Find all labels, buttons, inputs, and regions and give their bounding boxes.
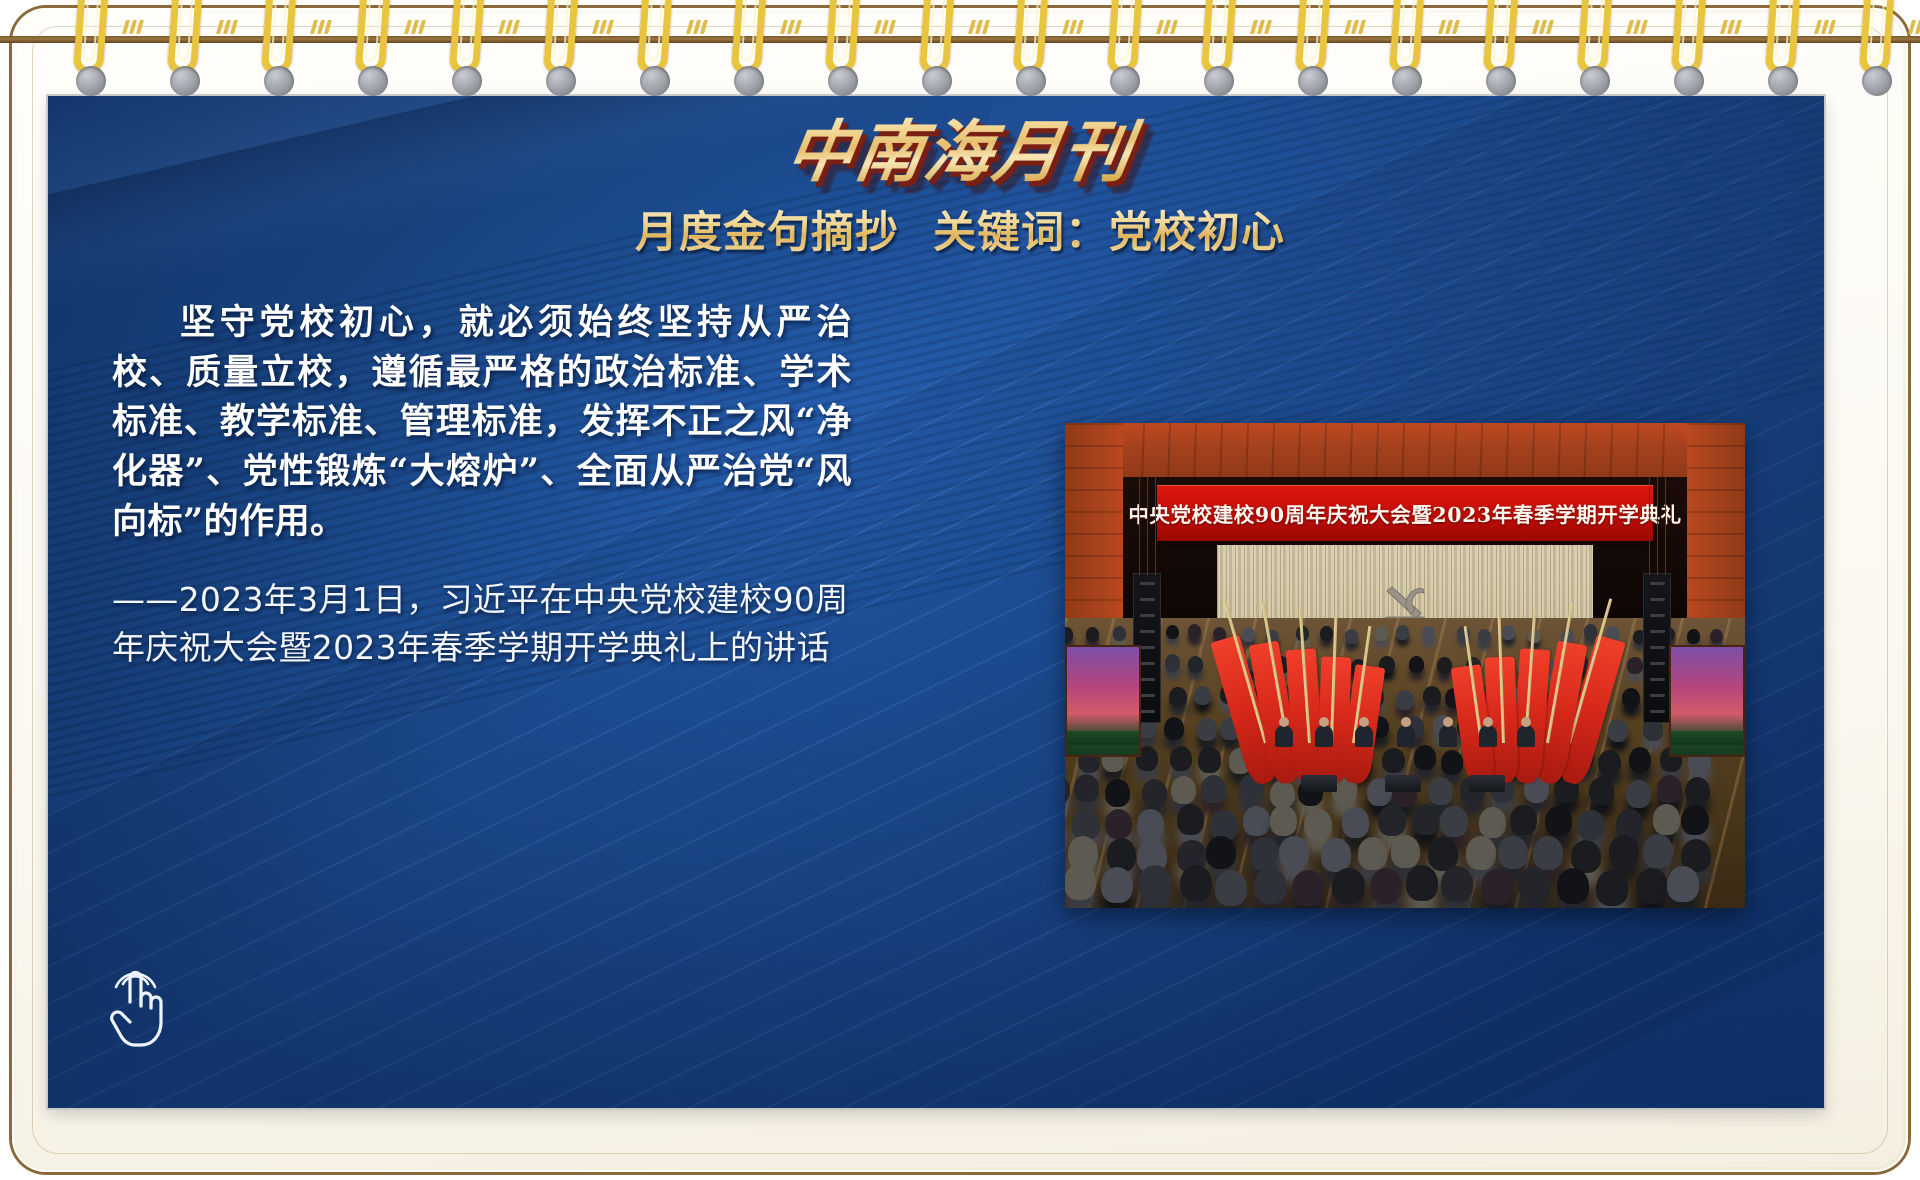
event-photo: 中央党校建校90周年庆祝大会暨2023年春季学期开学典礼 — [1065, 423, 1745, 908]
spiral-ring-loop — [919, 0, 955, 74]
audience-head — [1412, 804, 1439, 835]
punch-hole — [640, 66, 670, 96]
audience-head — [1321, 838, 1351, 871]
punch-hole — [1110, 66, 1140, 96]
spiral-wire-tick — [1158, 20, 1180, 34]
audience-head — [1626, 780, 1651, 808]
spiral-wire-tick — [1346, 20, 1368, 34]
spiral-ring-loop — [637, 0, 673, 74]
audience-head — [1629, 747, 1652, 772]
audience-head — [1622, 688, 1640, 708]
audience-head — [1086, 627, 1099, 642]
presidium-person — [1397, 725, 1415, 747]
spiral-wire-tick — [1816, 20, 1838, 34]
audience-head — [1406, 865, 1438, 901]
spiral-wire-tick — [1064, 20, 1086, 34]
presidium-person — [1479, 725, 1497, 747]
spiral-wire-tick — [406, 20, 428, 34]
audience-head — [1254, 868, 1286, 904]
punch-hole — [264, 66, 294, 96]
audience-head — [1440, 806, 1467, 837]
punch-hole — [546, 66, 576, 96]
punch-hole — [1580, 66, 1610, 96]
audience-head — [1627, 657, 1642, 674]
audience-head — [1382, 748, 1405, 773]
stage-monitor — [1385, 775, 1421, 792]
punch-hole — [828, 66, 858, 96]
audience-head — [1391, 835, 1421, 868]
audience-head — [1137, 809, 1164, 840]
spiral-wire-tick — [594, 20, 616, 34]
audience-head — [1292, 870, 1324, 906]
audience-head — [1113, 626, 1126, 641]
punch-hole — [1862, 66, 1892, 96]
audience-head — [1197, 718, 1217, 741]
audience-head — [1557, 868, 1589, 904]
subtitle-keyword: 关键词：党校初心 — [933, 208, 1285, 258]
audience-head — [1101, 867, 1133, 903]
audience-head — [1215, 870, 1247, 906]
spiral-ring-loop — [825, 0, 861, 74]
led-screen-right — [1669, 645, 1745, 757]
audience-head — [1598, 750, 1621, 775]
audience-head — [1320, 626, 1333, 641]
presidium-person — [1355, 725, 1373, 747]
presidium-person — [1315, 725, 1333, 747]
spiral-ring-loop — [1389, 0, 1425, 74]
punch-hole — [1392, 66, 1422, 96]
spiral-ring-loop — [731, 0, 767, 74]
punch-hole — [1298, 66, 1328, 96]
spiral-wire-tick — [1440, 20, 1462, 34]
speaker-wire — [1155, 477, 1156, 575]
audience-head — [1510, 805, 1537, 836]
audience-head — [1423, 686, 1441, 706]
presidium-person — [1439, 725, 1457, 747]
audience-head — [1332, 868, 1364, 904]
punch-hole — [1486, 66, 1516, 96]
spiral-wire-tick — [312, 20, 334, 34]
audience-head — [1206, 836, 1236, 869]
hall-ceiling — [1065, 423, 1745, 485]
quote-text: 坚守党校初心，就必须始终坚持从严治校、质量立校，遵循最严格的政治标准、学术标准、… — [112, 298, 852, 546]
audience-head — [1498, 836, 1528, 869]
audience-head — [1533, 836, 1563, 869]
stage-monitor — [1469, 775, 1505, 792]
audience-head — [1169, 687, 1187, 707]
audience-head — [1657, 775, 1682, 803]
speaker-wire — [1657, 477, 1658, 575]
spiral-wire-tick — [1628, 20, 1650, 34]
spiral-ring-loop — [1671, 0, 1707, 74]
audience-head — [1345, 629, 1358, 644]
punch-hole — [170, 66, 200, 96]
event-banner-text: 中央党校建校90周年庆祝大会暨2023年春季学期开学典礼 — [1128, 498, 1681, 528]
punch-hole — [76, 66, 106, 96]
punch-hole — [1204, 66, 1234, 96]
stage-monitor — [1301, 775, 1337, 792]
presidium-person — [1275, 725, 1293, 747]
audience-head — [1685, 777, 1710, 805]
spiral-ring-loop — [355, 0, 391, 74]
spiral-ring-loop — [167, 0, 203, 74]
line-array-speaker — [1643, 573, 1671, 723]
audience-head — [1681, 805, 1708, 836]
audience-head — [1636, 868, 1668, 904]
audience-head — [1370, 868, 1402, 904]
audience-head — [1270, 805, 1297, 836]
audience-head — [1441, 866, 1473, 902]
photo-scene: 中央党校建校90周年庆祝大会暨2023年春季学期开学典礼 — [1065, 423, 1745, 908]
audience-head — [1188, 656, 1203, 673]
audience-head — [1065, 776, 1070, 804]
audience-head — [1441, 750, 1464, 775]
audience-head — [1608, 719, 1628, 742]
audience-head — [1478, 629, 1491, 644]
spiral-ring-loop — [1577, 0, 1613, 74]
spiral-wire-tick — [1910, 20, 1920, 34]
punch-hole — [922, 66, 952, 96]
quote-attribution: ——2023年3月1日，习近平在中央党校建校90周年庆祝大会暨2023年春季学期… — [112, 576, 852, 672]
audience-head — [1577, 810, 1604, 841]
spiral-ring-loop — [543, 0, 579, 74]
audience-head — [1545, 806, 1572, 837]
spiral-wire-tick — [1722, 20, 1744, 34]
spiral-ring-loop — [1107, 0, 1143, 74]
subtitle-left: 月度金句摘抄 — [635, 208, 899, 258]
spiral-ring-loop — [1765, 0, 1801, 74]
notebook-page: 中南海月刊 月度金句摘抄关键词：党校初心 坚守党校初心，就必须始终坚持从严治校、… — [0, 0, 1920, 1180]
audience-head — [1609, 835, 1639, 868]
audience-head — [1667, 866, 1699, 902]
spiral-ring-loop — [1483, 0, 1519, 74]
audience-head — [1653, 804, 1680, 835]
audience-head — [1250, 837, 1280, 870]
spiral-ring-loop — [1013, 0, 1049, 74]
audience-head — [1589, 777, 1614, 805]
spiral-ring-loop — [1859, 0, 1895, 74]
audience-head — [1643, 834, 1673, 867]
speaker-wire — [1665, 477, 1666, 575]
audience-head — [1358, 837, 1388, 870]
audience-head — [1481, 869, 1513, 905]
audience-head — [1165, 654, 1180, 671]
spiral-wire-tick — [1534, 20, 1556, 34]
spiral-ring-loop — [449, 0, 485, 74]
audience-head — [1170, 746, 1193, 771]
audience-head — [1074, 774, 1099, 802]
audience-head — [1171, 776, 1196, 804]
audience-head — [1142, 779, 1167, 807]
audience-head — [1687, 629, 1700, 644]
tap-hand-icon[interactable] — [100, 962, 172, 1052]
audience-head — [1065, 864, 1096, 900]
audience-head — [1584, 624, 1597, 639]
audience-head — [1596, 870, 1628, 906]
audience-head — [1139, 865, 1171, 901]
page-title: 中南海月刊 — [770, 98, 1150, 195]
audience-head — [1188, 624, 1201, 639]
spiral-wire-tick — [124, 20, 146, 34]
punch-hole — [1674, 66, 1704, 96]
audience-head — [1422, 626, 1435, 641]
audience-head — [1243, 806, 1270, 837]
spiral-wire-tick — [218, 20, 240, 34]
punch-hole — [1016, 66, 1046, 96]
punch-hole — [734, 66, 764, 96]
audience-head — [1105, 779, 1130, 807]
audience-head — [1242, 627, 1255, 642]
spiral-wire-tick — [970, 20, 992, 34]
punch-hole — [452, 66, 482, 96]
audience-head — [1710, 629, 1723, 644]
spiral-ring-loop — [73, 0, 109, 74]
spiral-binding — [0, 0, 1920, 100]
spiral-wire-tick — [876, 20, 898, 34]
audience-head — [1396, 625, 1409, 640]
speaker-wire — [1139, 477, 1140, 575]
subtitle-row: 月度金句摘抄关键词：党校初心 — [0, 198, 1920, 260]
event-banner: 中央党校建校90周年庆祝大会暨2023年春季学期开学典礼 — [1157, 485, 1653, 541]
audience-head — [1304, 809, 1331, 840]
speaker-wire — [1649, 477, 1650, 575]
audience-head — [1198, 747, 1221, 772]
led-screen-left — [1065, 645, 1141, 757]
audience-head — [1166, 625, 1179, 640]
audience-head — [1164, 717, 1184, 740]
subtitle-group: 月度金句摘抄关键词：党校初心 — [635, 198, 1285, 260]
audience-head — [1518, 867, 1550, 903]
masthead: 中南海月刊 — [0, 98, 1920, 195]
audience-head — [1107, 838, 1137, 871]
audience-head — [1466, 836, 1496, 869]
audience-head — [1270, 780, 1295, 808]
audience-head — [1072, 809, 1099, 840]
spiral-ring-loop — [1201, 0, 1237, 74]
audience-head — [1396, 690, 1414, 710]
audience-head — [1502, 625, 1515, 640]
quote-column: 坚守党校初心，就必须始终坚持从严治校、质量立校，遵循最严格的政治标准、学术标准、… — [112, 298, 852, 672]
audience-head — [1414, 745, 1437, 770]
punch-hole — [358, 66, 388, 96]
audience-head — [1105, 809, 1132, 840]
audience-head — [1177, 804, 1204, 835]
spiral-wire-tick — [1252, 20, 1274, 34]
spiral-wire-tick — [500, 20, 522, 34]
audience-head — [1180, 865, 1212, 901]
audience-head — [1479, 807, 1506, 838]
audience-head — [1065, 627, 1073, 642]
presidium-person — [1517, 725, 1535, 747]
spiral-ring-loop — [261, 0, 297, 74]
spiral-wire-tick — [688, 20, 710, 34]
audience-head — [1428, 777, 1453, 805]
audience-head — [1342, 807, 1369, 838]
audience-head — [1279, 836, 1309, 869]
audience-head — [1375, 626, 1388, 641]
audience-head — [1409, 656, 1424, 673]
spiral-ring-loop — [1295, 0, 1331, 74]
audience-head — [1378, 805, 1405, 836]
audience-head — [1194, 686, 1212, 706]
audience-head — [1201, 775, 1226, 803]
punch-hole — [1768, 66, 1798, 96]
spiral-wire-tick — [782, 20, 804, 34]
speaker-wire — [1147, 477, 1148, 575]
